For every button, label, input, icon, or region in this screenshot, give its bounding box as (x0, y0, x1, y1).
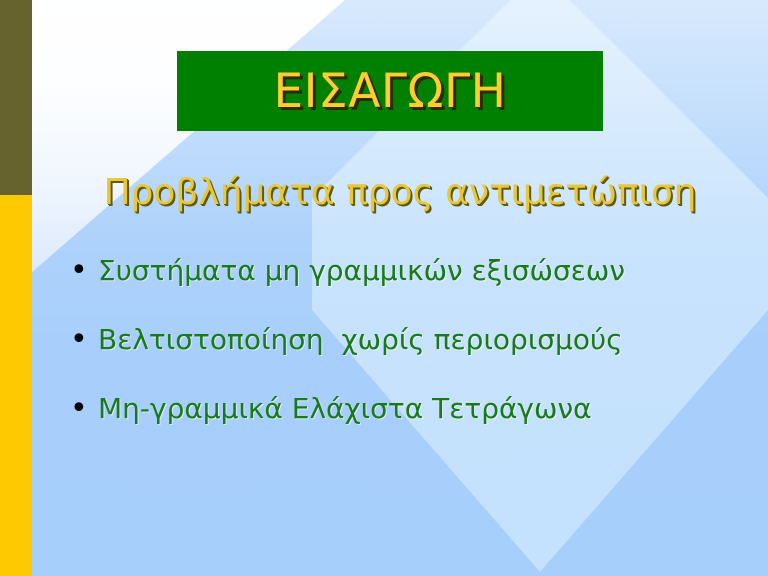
list-item-label: Συστήματα μη γραμμικών εξισώσεων (98, 252, 625, 290)
bullet-point-icon: • (64, 321, 98, 359)
left-accent-bar-olive (0, 0, 32, 195)
bullet-point-icon: • (64, 390, 98, 428)
list-item: • Συστήματα μη γραμμικών εξισώσεων (64, 252, 724, 290)
bullet-point-icon: • (64, 252, 98, 290)
slide-subtitle: Προβλήματα προς αντιμετώπιση (32, 174, 768, 212)
presentation-slide: ΕΙΣΑΓΩΓΗ Προβλήματα προς αντιμετώπιση • … (0, 0, 768, 576)
list-item-label: Μη-γραμμικά Ελάχιστα Τετράγωνα (98, 390, 592, 428)
list-item: • Βελτιστοποίηση χωρίς περιορισμούς (64, 321, 724, 359)
bullet-list: • Συστήματα μη γραμμικών εξισώσεων • Βελ… (64, 252, 724, 459)
slide-title: ΕΙΣΑΓΩΓΗ (273, 68, 506, 115)
list-item: • Μη-γραμμικά Ελάχιστα Τετράγωνα (64, 390, 724, 428)
list-item-label: Βελτιστοποίηση χωρίς περιορισμούς (98, 321, 623, 359)
left-accent-bar-gold (0, 195, 32, 576)
slide-title-box: ΕΙΣΑΓΩΓΗ (177, 51, 603, 131)
